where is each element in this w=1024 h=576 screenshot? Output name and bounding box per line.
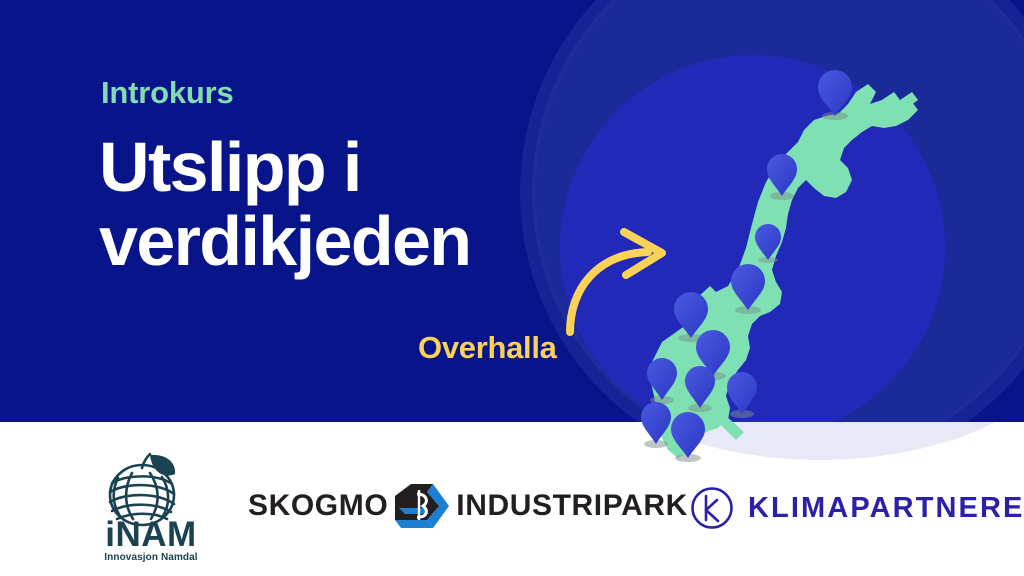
klimapartnere-wordmark: KLIMAPARTNERE	[748, 494, 1024, 523]
skogmo-word-right: INDUSTRIPARK	[456, 491, 688, 521]
inam-wordmark: iNAM	[92, 517, 210, 552]
circled-k-icon	[690, 486, 734, 530]
norway-map-icon	[600, 70, 930, 470]
place-label: Overhalla	[418, 330, 557, 366]
cube-logo-icon	[393, 482, 451, 530]
partner-logos-strip: iNAM Innovasjon Namdal SKOGMO INDUSTRIPA…	[0, 438, 1024, 576]
skogmo-word-left: SKOGMO	[248, 491, 388, 521]
map-landmass	[648, 84, 918, 458]
slide-root: Introkurs Utslipp i verdikjeden Overhall…	[0, 0, 1024, 576]
location-pin-icon	[727, 372, 757, 418]
skogmo-industripark-logo: SKOGMO INDUSTRIPARK	[248, 484, 688, 528]
headline-line-1: Utslipp i	[99, 130, 619, 204]
eyebrow-label: Introkurs	[101, 76, 234, 110]
page-title: Utslipp i verdikjeden	[99, 130, 619, 278]
inam-tagline: Innovasjon Namdal	[92, 552, 210, 563]
headline-line-2: verdikjeden	[99, 204, 619, 278]
klimapartnere-logo: KLIMAPARTNERE	[690, 486, 1024, 530]
